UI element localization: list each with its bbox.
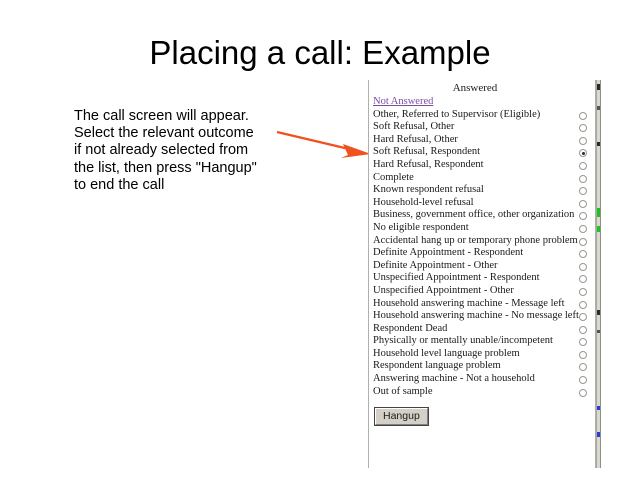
outcome-label: Unspecified Appointment - Respondent (373, 272, 540, 285)
outcome-row[interactable]: Definite Appointment - Other (373, 260, 597, 273)
outcome-row[interactable]: Hard Refusal, Other (373, 134, 597, 147)
outcome-row[interactable]: Unspecified Appointment - Other (373, 285, 597, 298)
outcome-radio-button[interactable] (579, 313, 587, 321)
scrollbar-mark (597, 406, 600, 410)
outcome-row[interactable]: Known respondent refusal (373, 184, 597, 197)
outcome-label: Unspecified Appointment - Other (373, 285, 514, 298)
call-outcome-panel: Answered Not AnsweredOther, Referred to … (368, 80, 596, 468)
outcome-list[interactable]: Not AnsweredOther, Referred to Superviso… (373, 96, 597, 398)
outcome-row[interactable]: Hard Refusal, Respondent (373, 159, 597, 172)
outcome-radio-button[interactable] (579, 200, 587, 208)
outcome-radio-button[interactable] (579, 225, 587, 233)
outcome-radio-button[interactable] (579, 137, 587, 145)
outcome-radio-button[interactable] (579, 275, 587, 283)
outcome-radio-button[interactable] (579, 162, 587, 170)
pointer-arrow-icon (275, 124, 371, 162)
outcome-label: Household-level refusal (373, 197, 474, 210)
slide-canvas: Placing a call: Example The call screen … (0, 0, 640, 480)
outcome-label: Household answering machine - No message… (373, 310, 579, 323)
outcome-radio-button[interactable] (579, 175, 587, 183)
outcome-row[interactable]: Business, government office, other organ… (373, 209, 597, 222)
scrollbar-mark (597, 208, 600, 217)
outcome-radio-button[interactable] (579, 212, 587, 220)
outcome-row[interactable]: Respondent Dead (373, 323, 597, 336)
caption-line: The call screen will appear. (74, 108, 279, 125)
outcome-label: Household level language problem (373, 348, 520, 361)
outcome-radio-button[interactable] (579, 149, 587, 157)
outcome-label: Respondent language problem (373, 360, 501, 373)
outcome-label: Business, government office, other organ… (373, 209, 574, 222)
outcome-radio-button[interactable] (579, 112, 587, 120)
outcome-radio-button[interactable] (579, 389, 587, 397)
outcome-row[interactable]: Definite Appointment - Respondent (373, 247, 597, 260)
scrollbar-mark (597, 106, 600, 110)
outcome-row[interactable]: Complete (373, 172, 597, 185)
outcome-label: Definite Appointment - Other (373, 260, 498, 273)
outcome-label: Out of sample (373, 386, 433, 399)
scrollbar-mark (597, 310, 600, 315)
outcome-row[interactable]: Household answering machine - No message… (373, 310, 597, 323)
outcome-label: Accidental hang up or temporary phone pr… (373, 235, 578, 248)
outcome-radio-button[interactable] (579, 263, 587, 271)
outcome-row[interactable]: No eligible respondent (373, 222, 597, 235)
outcome-label: Soft Refusal, Respondent (373, 146, 480, 159)
outcome-label: Hard Refusal, Respondent (373, 159, 484, 172)
scrollbar-mark (597, 330, 600, 333)
scrollbar-mark (597, 432, 600, 437)
outcome-radio-button[interactable] (579, 363, 587, 371)
outcome-radio-button[interactable] (579, 351, 587, 359)
outcome-radio-button[interactable] (579, 187, 587, 195)
outcome-radio-button[interactable] (579, 326, 587, 334)
page-title: Placing a call: Example (0, 34, 640, 72)
hangup-button[interactable]: Hangup (375, 408, 428, 425)
caption-text-block: The call screen will appear. Select the … (74, 108, 279, 194)
outcome-row[interactable]: Household level language problem (373, 348, 597, 361)
outcome-radio-button[interactable] (579, 301, 587, 309)
outcome-row[interactable]: Respondent language problem (373, 360, 597, 373)
outcome-label: Other, Referred to Supervisor (Eligible) (373, 109, 540, 122)
outcome-row[interactable]: Soft Refusal, Other (373, 121, 597, 134)
outcome-radio-button[interactable] (579, 288, 587, 296)
outcome-label: Soft Refusal, Other (373, 121, 454, 134)
outcome-row[interactable]: Household answering machine - Message le… (373, 298, 597, 311)
outcome-radio-button[interactable] (579, 376, 587, 384)
outcome-row[interactable]: Physically or mentally unable/incompeten… (373, 335, 597, 348)
outcome-row[interactable]: Accidental hang up or temporary phone pr… (373, 235, 597, 248)
outcome-row[interactable]: Unspecified Appointment - Respondent (373, 272, 597, 285)
outcome-label: Physically or mentally unable/incompeten… (373, 335, 553, 348)
outcome-label: Definite Appointment - Respondent (373, 247, 523, 260)
outcome-label: Respondent Dead (373, 323, 447, 336)
caption-line: if not already selected from (74, 142, 279, 159)
answered-header-label: Answered (369, 82, 581, 94)
outcome-label: Complete (373, 172, 414, 185)
outcome-label[interactable]: Not Answered (373, 96, 433, 109)
outcome-row[interactable]: Out of sample (373, 386, 597, 399)
outcome-radio-button[interactable] (579, 338, 587, 346)
outcome-radio-button[interactable] (579, 124, 587, 132)
caption-line: to end the call (74, 177, 279, 194)
outcome-label: Household answering machine - Message le… (373, 298, 565, 311)
outcome-label: Hard Refusal, Other (373, 134, 458, 147)
caption-line: the list, then press "Hangup" (74, 160, 279, 177)
panel-scrollbar[interactable] (596, 80, 601, 468)
outcome-row[interactable]: Answering machine - Not a household (373, 373, 597, 386)
outcome-label: Known respondent refusal (373, 184, 484, 197)
outcome-radio-button[interactable] (579, 238, 587, 246)
arrow-shaft (277, 132, 349, 149)
outcome-row[interactable]: Soft Refusal, Respondent (373, 146, 597, 159)
scrollbar-mark (597, 142, 600, 146)
outcome-label: No eligible respondent (373, 222, 469, 235)
caption-line: Select the relevant outcome (74, 125, 279, 142)
arrow-head (341, 144, 371, 158)
outcome-row[interactable]: Household-level refusal (373, 197, 597, 210)
scrollbar-mark (597, 84, 600, 90)
outcome-radio-button[interactable] (579, 250, 587, 258)
outcome-row[interactable]: Other, Referred to Supervisor (Eligible) (373, 109, 597, 122)
outcome-row-not-answered[interactable]: Not Answered (373, 96, 597, 109)
outcome-label: Answering machine - Not a household (373, 373, 535, 386)
scrollbar-mark (597, 226, 600, 232)
